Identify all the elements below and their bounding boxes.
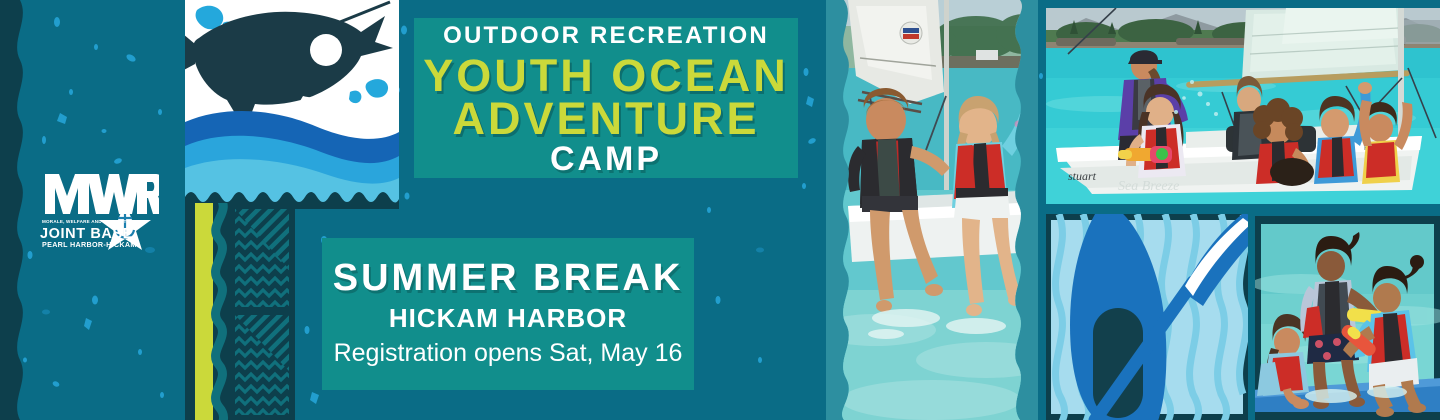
- banner-root: MORALE, WELFARE AND RECREATION JOINT BAS…: [0, 0, 1440, 420]
- headline-line1: YOUTH OCEAN: [423, 54, 789, 97]
- info-registration: Registration opens Sat, May 16: [334, 338, 683, 369]
- info-box: SUMMER BREAK HICKAM HARBOR Registration …: [322, 238, 694, 390]
- mwr-tagline: MORALE, WELFARE AND RECREATION: [42, 219, 136, 224]
- photo-two-kids-on-sailboat: [826, 0, 1038, 420]
- headline-kicker: OUTDOOR RECREATION: [443, 24, 769, 48]
- tapa-green-band: [195, 203, 213, 420]
- fish-logo-panel: [185, 0, 399, 203]
- mwr-line2: PEARL HARBOR-HICKAM: [42, 240, 137, 249]
- info-location: HICKAM HARBOR: [389, 302, 627, 335]
- kayak-graphic-panel: [1046, 214, 1248, 420]
- photo-kids-water-play-on-mat: [1255, 216, 1440, 420]
- headline-line2: ADVENTURE: [452, 97, 759, 140]
- tapa-pattern-panel: [185, 203, 295, 420]
- mwr-wordmark: [45, 174, 159, 214]
- headline-box: OUTDOOR RECREATION YOUTH OCEAN ADVENTURE…: [414, 18, 798, 178]
- center-photo-left-wave-divider: [808, 0, 828, 420]
- svg-text:Sea Breeze: Sea Breeze: [1118, 179, 1179, 194]
- headline-line3: CAMP: [550, 142, 662, 176]
- photo-group-sailing-with-instructor: stuart Sea Breeze Hobie: [1046, 8, 1440, 204]
- svg-text:stuart: stuart: [1068, 169, 1097, 183]
- info-title: SUMMER BREAK: [333, 259, 684, 297]
- mwr-logo: MORALE, WELFARE AND RECREATION JOINT BAS…: [33, 168, 159, 252]
- fish-eye: [310, 34, 342, 66]
